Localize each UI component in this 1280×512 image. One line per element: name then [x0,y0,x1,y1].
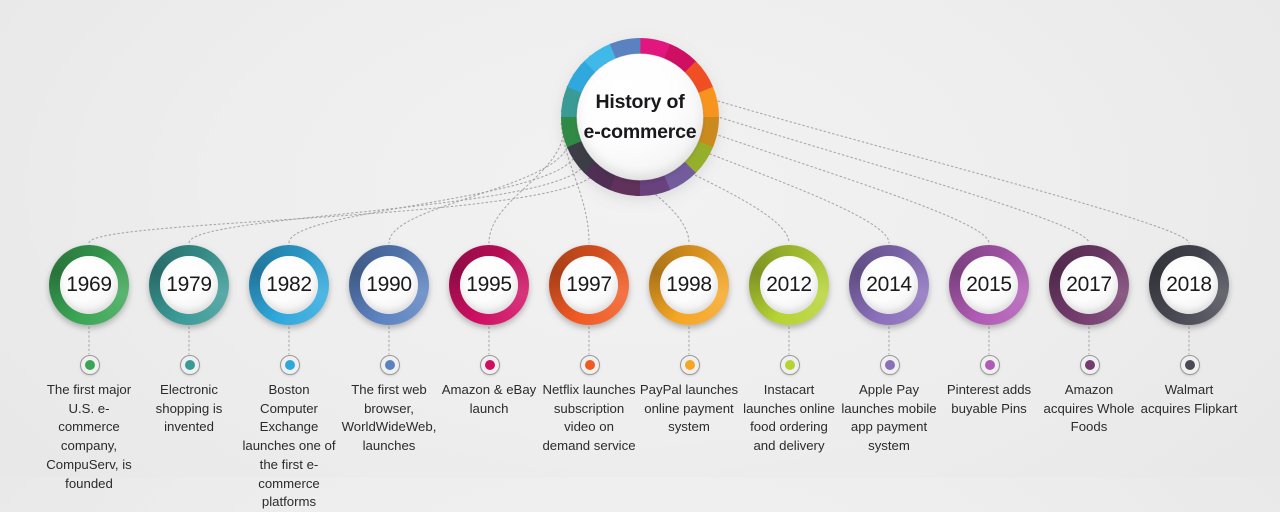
caption-dot-1979 [180,355,200,375]
timeline-node-2012[interactable]: 2012 [749,245,829,325]
connector-line [489,136,563,243]
caption-dot-2018 [1180,355,1200,375]
node-inner-disc: 1969 [60,256,118,314]
caption-dot-fill [1085,360,1095,370]
infographic-canvas: History of e-commerce 1969The first majo… [0,0,1280,477]
timeline-node-2017[interactable]: 2017 [1049,245,1129,325]
hub-ring-segment [613,46,641,51]
timeline-node-1969[interactable]: 1969 [49,245,129,325]
caption-text-1995: Amazon & eBay launch [439,381,539,418]
caption-text-2015: Pinterest adds buyable Pins [939,381,1039,418]
caption-dot-fill [585,360,595,370]
node-year-label: 2012 [766,273,812,297]
caption-dot-1995 [480,355,500,375]
hub-node: History of e-commerce [561,38,719,196]
node-inner-disc: 2012 [760,256,818,314]
node-inner-disc: 1997 [560,256,618,314]
caption-dot-1997 [580,355,600,375]
node-inner-disc: 2015 [960,256,1018,314]
timeline-node-2018[interactable]: 2018 [1149,245,1229,325]
hub-ring-segment [706,90,711,118]
timeline-node-1997[interactable]: 1997 [549,245,629,325]
caption-text-2014: Apple Pay launches mobile app payment sy… [839,381,939,456]
node-year-label: 1995 [466,273,512,297]
caption-dot-2015 [980,355,1000,375]
caption-text-1998: PayPal launches online payment system [639,381,739,437]
node-year-label: 1990 [366,273,412,297]
connector-line [89,178,590,243]
caption-dot-fill [85,360,95,370]
hub-title-line1: History of [595,87,684,117]
caption-dot-fill [985,360,995,370]
node-year-label: 1997 [566,273,612,297]
caption-dot-1998 [680,355,700,375]
hub-ring-segment [569,89,575,117]
caption-dot-fill [385,360,395,370]
caption-dot-2012 [780,355,800,375]
node-year-label: 1979 [166,273,212,297]
node-inner-disc: 2017 [1060,256,1118,314]
timeline-node-2014[interactable]: 2014 [849,245,929,325]
node-year-label: 1998 [666,273,712,297]
caption-dot-fill [785,360,795,370]
node-inner-disc: 1998 [660,256,718,314]
node-inner-disc: 1990 [360,256,418,314]
caption-text-2017: Amazon acquires Whole Foods [1039,381,1139,437]
caption-dot-2014 [880,355,900,375]
timeline-node-2015[interactable]: 2015 [949,245,1029,325]
timeline-node-1998[interactable]: 1998 [649,245,729,325]
connector-line [389,148,567,243]
caption-dot-2017 [1080,355,1100,375]
node-inner-disc: 1982 [260,256,318,314]
timeline-node-1982[interactable]: 1982 [249,245,329,325]
caption-dot-fill [885,360,895,370]
node-year-label: 2015 [966,273,1012,297]
caption-dot-fill [485,360,495,370]
timeline-node-1979[interactable]: 1979 [149,245,229,325]
caption-text-1990: The first web browser, WorldWideWeb, lau… [339,381,439,456]
timeline-node-1990[interactable]: 1990 [349,245,429,325]
node-year-label: 2014 [866,273,912,297]
caption-dot-fill [685,360,695,370]
timeline-node-1995[interactable]: 1995 [449,245,529,325]
hub-title-line2: e-commerce [584,117,697,147]
node-inner-disc: 2018 [1160,256,1218,314]
hub-inner-disc: History of e-commerce [577,54,703,180]
node-inner-disc: 1995 [460,256,518,314]
node-inner-disc: 2014 [860,256,918,314]
caption-text-2012: Instacart launches online food ordering … [739,381,839,456]
caption-text-1982: Boston Computer Exchange launches one of… [239,381,339,512]
caption-text-1997: Netflix launches subscription video on d… [539,381,639,456]
connector-line [189,169,581,243]
caption-dot-1969 [80,355,100,375]
node-year-label: 2017 [1066,273,1112,297]
caption-dot-fill [1185,360,1195,370]
node-year-label: 1982 [266,273,312,297]
caption-dot-1982 [280,355,300,375]
connector-line [289,159,573,243]
hub-ring-segment [640,46,668,52]
caption-dot-1990 [380,355,400,375]
node-year-label: 2018 [1166,273,1212,297]
caption-dot-fill [285,360,295,370]
caption-text-1979: Electronic shopping is invented [139,381,239,437]
node-inner-disc: 1979 [160,256,218,314]
caption-dot-fill [185,360,195,370]
node-year-label: 1969 [66,273,112,297]
caption-text-2018: Walmart acquires Flipkart [1139,381,1239,418]
